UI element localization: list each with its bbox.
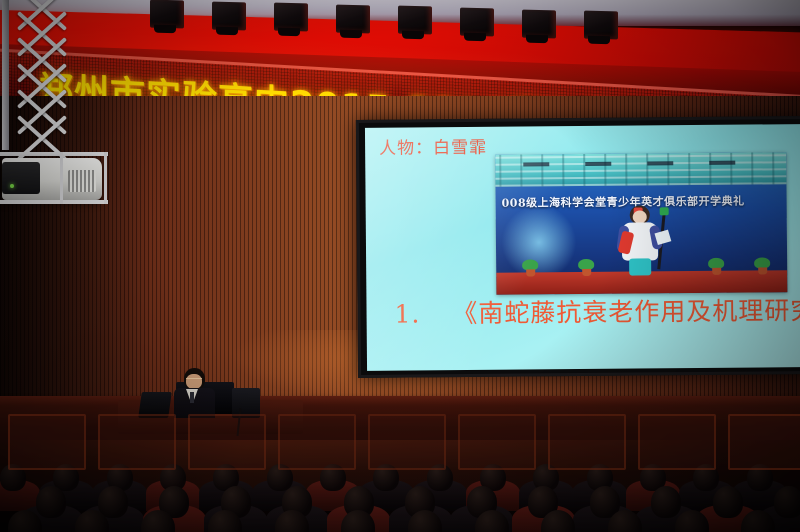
rig-pole xyxy=(2,0,9,150)
stage-light xyxy=(212,1,246,30)
stage-light xyxy=(274,3,308,32)
projection-screen-frame: 人物：白雪霏 008级上海科学会堂青少年英才俱乐部开学典礼 xyxy=(356,116,800,378)
slide-item-number: 1. xyxy=(394,299,420,328)
audience-head xyxy=(713,486,743,518)
stage-light xyxy=(522,9,556,38)
photo-grid-line xyxy=(520,155,522,187)
photo-grid-line xyxy=(495,168,786,173)
photo-grid-line xyxy=(730,153,732,185)
photo-plant xyxy=(754,258,770,274)
photo-stage-glow xyxy=(500,206,579,279)
stage-panel xyxy=(368,414,446,470)
photo-speaker-legs xyxy=(629,258,651,275)
photo-grid-line xyxy=(625,154,627,186)
audience-head xyxy=(651,486,681,518)
projector-lens-face xyxy=(2,162,40,194)
photo-light-fixture xyxy=(709,161,735,165)
photo-grid-line xyxy=(772,152,774,184)
rig-rod-a xyxy=(104,152,107,204)
photo-light-fixture xyxy=(647,161,673,165)
rig-rod-b xyxy=(60,152,63,204)
stage-light xyxy=(460,8,494,37)
photo-grid-line xyxy=(499,155,501,187)
projector-mount-bottom xyxy=(0,200,108,204)
photo-grid-line xyxy=(495,182,786,187)
photo-grid-line xyxy=(495,154,786,159)
presenter-tie xyxy=(190,392,194,403)
stage-panel xyxy=(188,414,266,470)
photo-grid-line xyxy=(541,154,543,186)
slide-item-line: 1. 《南蛇藤抗衰老作用及机理研究》 xyxy=(394,291,800,331)
projector-mount-top xyxy=(0,152,108,156)
photo-grid-line xyxy=(583,154,585,186)
photo-plant xyxy=(708,259,724,275)
photo-speaker-paper xyxy=(655,230,672,245)
slide-embedded-photo: 008级上海科学会堂青少年英才俱乐部开学典礼 xyxy=(495,152,787,295)
photo-grid-line xyxy=(495,175,786,180)
photo-grid-line xyxy=(646,153,648,185)
presenter xyxy=(168,368,220,416)
hair-bow-right xyxy=(660,207,669,215)
slide-heading: 人物：白雪霏 xyxy=(379,133,487,159)
audience-head xyxy=(774,486,800,518)
stage-panel xyxy=(98,414,176,470)
projection-screen: 人物：白雪霏 008级上海科学会堂青少年英才俱乐部开学典礼 xyxy=(365,124,800,371)
scissor-lift-mount xyxy=(10,0,70,150)
photo-grid-line xyxy=(709,153,711,185)
photo-grid-line xyxy=(688,153,690,185)
photo-grid-line xyxy=(604,154,606,186)
photo-grid-line xyxy=(667,153,669,185)
audience-head xyxy=(36,486,66,518)
ceiling-projector xyxy=(2,158,102,200)
photo-light-fixture xyxy=(523,162,549,166)
stage-light xyxy=(584,11,618,40)
stage-panel xyxy=(728,414,800,470)
slide-item-title: 《南蛇藤抗衰老作用及机理研究》 xyxy=(452,296,800,328)
projector-status-led xyxy=(10,184,14,188)
stage-light xyxy=(398,6,432,35)
stage-panel xyxy=(8,414,86,470)
stage-light xyxy=(150,0,184,28)
projector-vent xyxy=(68,170,96,192)
photo-speaker-figure xyxy=(618,205,663,275)
photo-grid-line xyxy=(562,154,564,186)
stage-panel xyxy=(548,414,626,470)
photo-ceiling-grid xyxy=(495,152,786,187)
stage-panel xyxy=(458,414,536,470)
stage-panel xyxy=(638,414,716,470)
stage-panel xyxy=(278,414,356,470)
photo-grid-line xyxy=(751,153,753,185)
glasses-icon xyxy=(186,378,202,383)
stage-light xyxy=(336,4,370,33)
photo-plant xyxy=(578,260,594,276)
photo-light-fixture xyxy=(585,162,611,166)
projector-rig xyxy=(0,0,150,230)
photo-plant xyxy=(522,260,538,276)
auditorium-photo: 郑州市实验高中2015-2016学年学生研究性 人物：白雪霏 008级上海科学会… xyxy=(0,0,800,532)
